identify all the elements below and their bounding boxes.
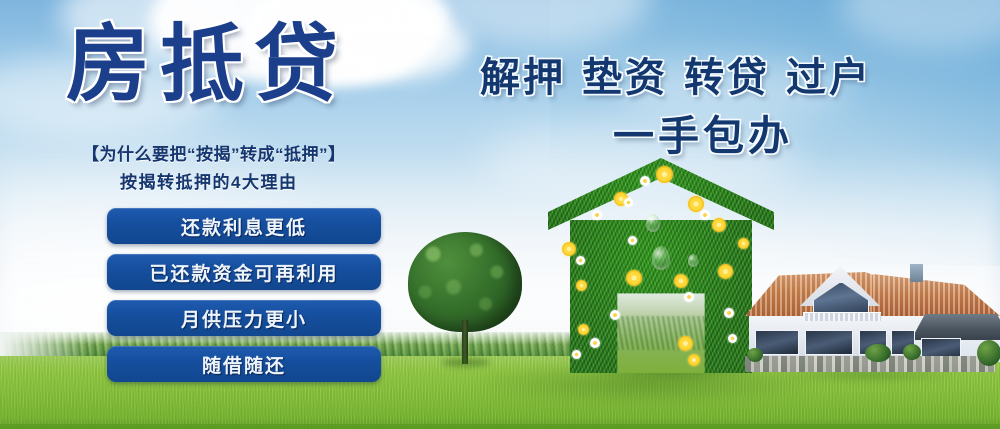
daisy-flower-icon bbox=[674, 274, 688, 288]
daisy-flower-icon bbox=[578, 324, 589, 335]
service-item-dianzi: 垫资 bbox=[582, 56, 668, 100]
daisy-flower-icon bbox=[728, 334, 737, 343]
daisy-flower-icon bbox=[590, 338, 600, 348]
daisy-flower-icon bbox=[610, 310, 620, 320]
villa-roof-right bbox=[873, 274, 1000, 316]
roof-tile-texture bbox=[873, 274, 1000, 316]
service-item-guohu: 过户 bbox=[786, 56, 872, 100]
reason-button-1-label: 还款利息更低 bbox=[181, 213, 307, 240]
daisy-flower-icon bbox=[724, 308, 734, 318]
daisy-flower-icon bbox=[626, 270, 642, 286]
daisy-flower-icon bbox=[684, 292, 694, 302]
reason-button-2-label: 已还款资金可再利用 bbox=[149, 259, 338, 286]
water-droplet-icon bbox=[652, 246, 670, 270]
tree-shadow bbox=[442, 358, 490, 367]
tree-icon bbox=[404, 232, 526, 364]
shrub-icon bbox=[747, 348, 763, 362]
reason-button-4-label: 随借随还 bbox=[202, 351, 286, 378]
daisy-flower-icon bbox=[628, 236, 637, 245]
daisy-flower-icon bbox=[656, 166, 673, 183]
subtitle-line-2: 按揭转抵押的4大理由 bbox=[120, 168, 297, 193]
service-item-zhuandai: 转贷 bbox=[684, 56, 770, 100]
shrub-icon bbox=[903, 344, 921, 360]
daisy-flower-icon bbox=[576, 256, 585, 265]
tree-crown bbox=[408, 232, 522, 332]
services-headline-line-1: 解押垫资转贷过户 bbox=[480, 45, 872, 103]
daisy-flower-icon bbox=[700, 210, 710, 220]
villa-window bbox=[805, 330, 853, 355]
reason-button-2[interactable]: 已还款资金可再利用 bbox=[107, 254, 381, 290]
daisy-flower-icon bbox=[576, 280, 587, 291]
daisy-flower-icon bbox=[688, 354, 700, 366]
shrub-icon bbox=[865, 344, 891, 362]
services-headline-line-2: 一手包办 bbox=[613, 102, 793, 162]
reason-button-3-label: 月供压力更小 bbox=[181, 305, 307, 332]
reason-button-1[interactable]: 还款利息更低 bbox=[107, 208, 381, 244]
reason-button-4[interactable]: 随借随还 bbox=[107, 346, 381, 382]
daisy-flower-icon bbox=[688, 196, 704, 212]
reason-button-3[interactable]: 月供压力更小 bbox=[107, 300, 381, 336]
daisy-flower-icon bbox=[738, 238, 749, 249]
banner-bottom-edge bbox=[0, 424, 1000, 429]
daisy-flower-icon bbox=[624, 198, 633, 207]
service-item-jieya: 解押 bbox=[480, 56, 566, 100]
grass-house-icon bbox=[548, 158, 774, 373]
villa-balcony-rail bbox=[803, 312, 881, 321]
daisy-flower-icon bbox=[592, 210, 602, 220]
page-title: 房抵贷 bbox=[66, 22, 348, 106]
daisy-flower-icon bbox=[678, 336, 693, 351]
shrub-icon bbox=[977, 340, 1000, 366]
water-droplet-icon bbox=[688, 254, 698, 267]
daisy-flower-icon bbox=[562, 242, 576, 256]
water-droplet-icon bbox=[646, 214, 660, 232]
villa-house-icon bbox=[745, 258, 1000, 376]
daisy-flower-icon bbox=[712, 218, 726, 232]
villa-porch-roof bbox=[911, 314, 1000, 340]
daisy-flower-icon bbox=[640, 176, 650, 186]
subtitle-line-1: 【为什么要把“按揭”转成“抵押”】 bbox=[82, 140, 346, 165]
daisy-flower-icon bbox=[718, 264, 733, 279]
villa-chimney bbox=[910, 264, 923, 282]
daisy-flower-icon bbox=[572, 350, 581, 359]
promo-banner: 房抵贷 【为什么要把“按揭”转成“抵押”】 按揭转抵押的4大理由 解押垫资转贷过… bbox=[0, 0, 1000, 429]
